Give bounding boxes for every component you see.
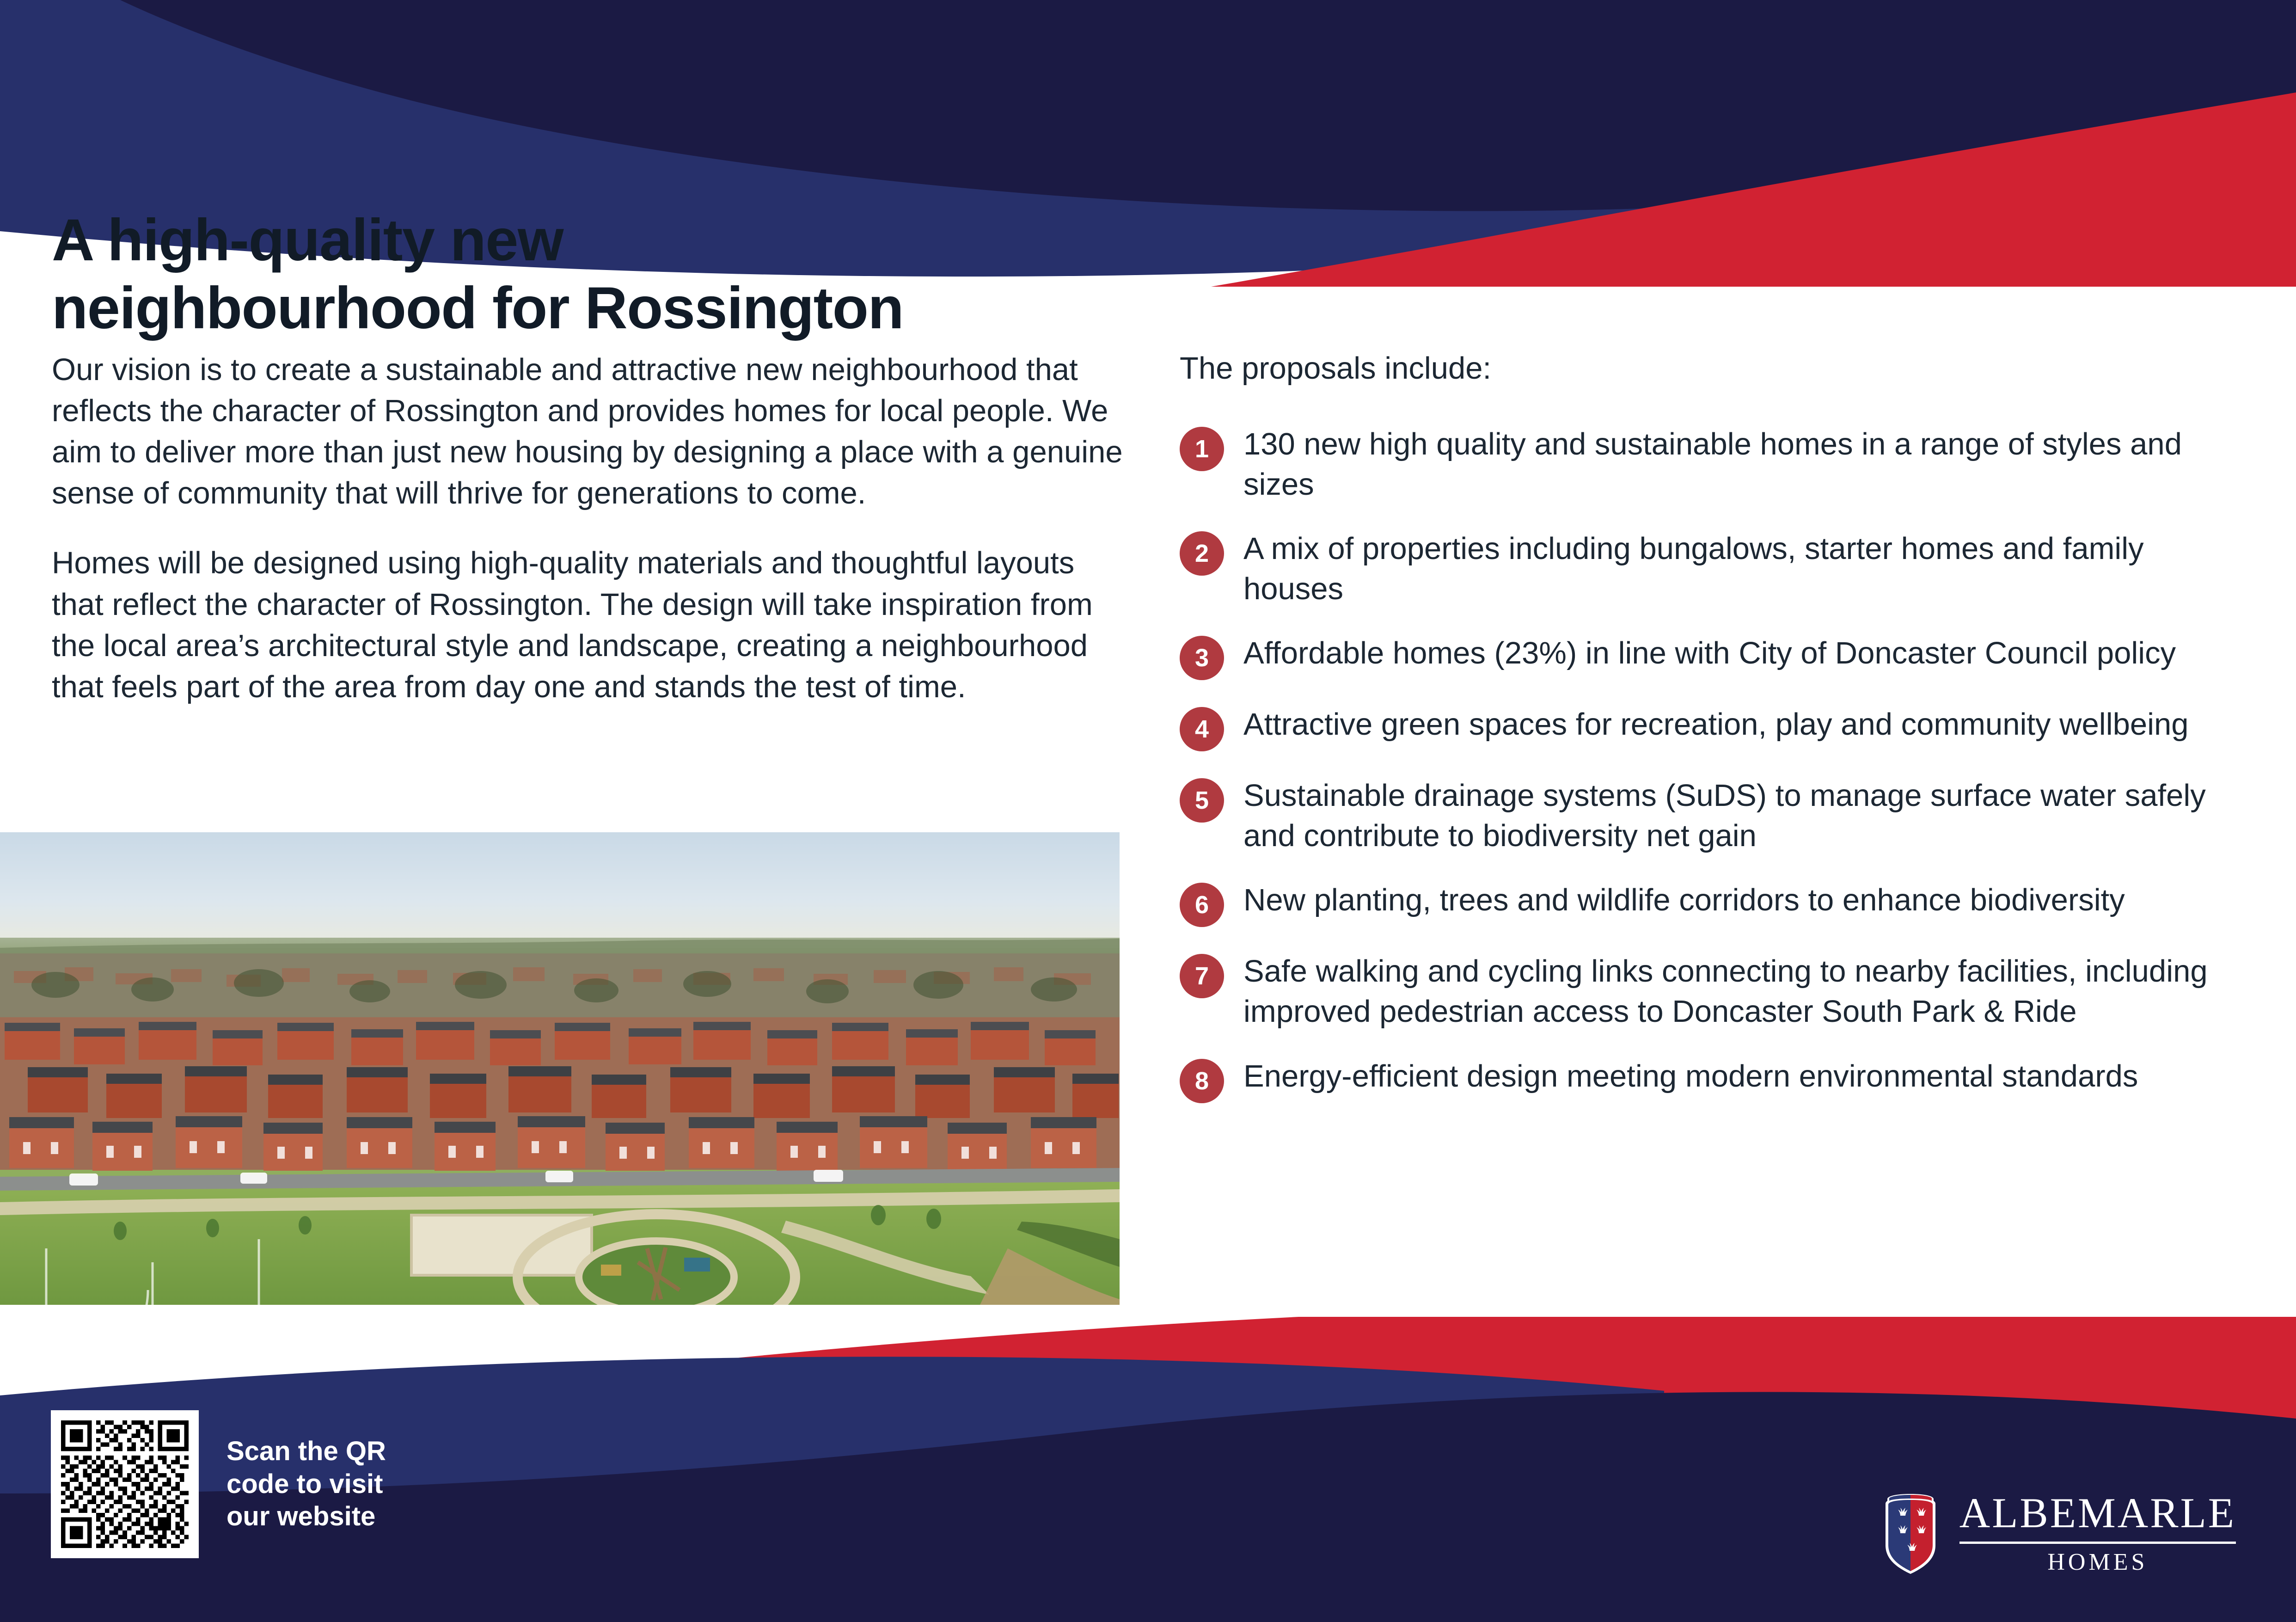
vision-paragraph-1: Our vision is to create a sustainable an… xyxy=(52,349,1124,514)
proposal-text: Sustainable drainage systems (SuDS) to m… xyxy=(1243,775,2243,856)
qr-code-image[interactable] xyxy=(51,1410,199,1558)
proposals-column: The proposals include: 1 130 new high qu… xyxy=(1180,349,2243,1127)
qr-code-matrix xyxy=(61,1420,189,1548)
list-item: 4 Attractive green spaces for recreation… xyxy=(1180,704,2243,751)
list-item: 7 Safe walking and cycling links connect… xyxy=(1180,951,2243,1032)
proposal-number-badge: 8 xyxy=(1180,1059,1224,1103)
qr-caption-line-1: Scan the QR xyxy=(227,1435,386,1468)
proposal-text: 130 new high quality and sustainable hom… xyxy=(1243,424,2243,504)
albemarle-homes-logo: ALBEMARLE HOMES xyxy=(1880,1490,2236,1576)
list-item: 3 Affordable homes (23%) in line with Ci… xyxy=(1180,633,2243,680)
vision-paragraph-2: Homes will be designed using high-qualit… xyxy=(52,542,1124,707)
logo-subtitle: HOMES xyxy=(1959,1550,2236,1574)
proposal-text: New planting, trees and wildlife corrido… xyxy=(1243,880,2243,920)
logo-name: ALBEMARLE xyxy=(1959,1492,2236,1534)
qr-caption-line-3: our website xyxy=(227,1500,386,1533)
logo-wordmark: ALBEMARLE HOMES xyxy=(1959,1492,2236,1574)
page-title-line-1: A high-quality new xyxy=(52,206,1184,274)
proposal-text: Safe walking and cycling links connectin… xyxy=(1243,951,2243,1032)
list-item: 6 New planting, trees and wildlife corri… xyxy=(1180,880,2243,927)
proposal-text: Attractive green spaces for recreation, … xyxy=(1243,704,2243,744)
proposal-number-badge: 3 xyxy=(1180,636,1224,680)
poster-board: A high-quality new neighbourhood for Ros… xyxy=(0,0,2296,1622)
page-title-line-2: neighbourhood for Rossington xyxy=(52,274,1184,342)
proposal-number-badge: 2 xyxy=(1180,531,1224,576)
proposal-number-badge: 5 xyxy=(1180,778,1224,823)
proposal-text: Energy-efficient design meeting modern e… xyxy=(1243,1056,2243,1096)
list-item: 2 A mix of properties including bungalow… xyxy=(1180,528,2243,609)
list-item: 8 Energy-efficient design meeting modern… xyxy=(1180,1056,2243,1103)
proposal-number-badge: 4 xyxy=(1180,707,1224,751)
shield-crest-icon xyxy=(1880,1490,1941,1576)
list-item: 5 Sustainable drainage systems (SuDS) to… xyxy=(1180,775,2243,856)
proposal-number-badge: 6 xyxy=(1180,883,1224,927)
proposals-heading: The proposals include: xyxy=(1180,349,2243,388)
logo-divider xyxy=(1959,1542,2236,1544)
top-navy-dark-shape xyxy=(120,0,2296,211)
proposal-text: A mix of properties including bungalows,… xyxy=(1243,528,2243,609)
aerial-photo xyxy=(0,832,1120,1305)
vision-text-column: Our vision is to create a sustainable an… xyxy=(52,349,1124,707)
proposal-text: Affordable homes (23%) in line with City… xyxy=(1243,633,2243,673)
top-red-shape xyxy=(1211,92,2296,287)
page-title: A high-quality new neighbourhood for Ros… xyxy=(52,206,1184,342)
qr-block[interactable]: Scan the QR code to visit our website xyxy=(51,1410,386,1558)
list-item: 1 130 new high quality and sustainable h… xyxy=(1180,424,2243,504)
qr-caption: Scan the QR code to visit our website xyxy=(227,1435,386,1533)
proposal-number-badge: 7 xyxy=(1180,954,1224,998)
proposal-number-badge: 1 xyxy=(1180,427,1224,471)
aerial-photo-illustration xyxy=(0,832,1120,1305)
proposals-list: 1 130 new high quality and sustainable h… xyxy=(1180,424,2243,1103)
qr-caption-line-2: code to visit xyxy=(227,1468,386,1501)
